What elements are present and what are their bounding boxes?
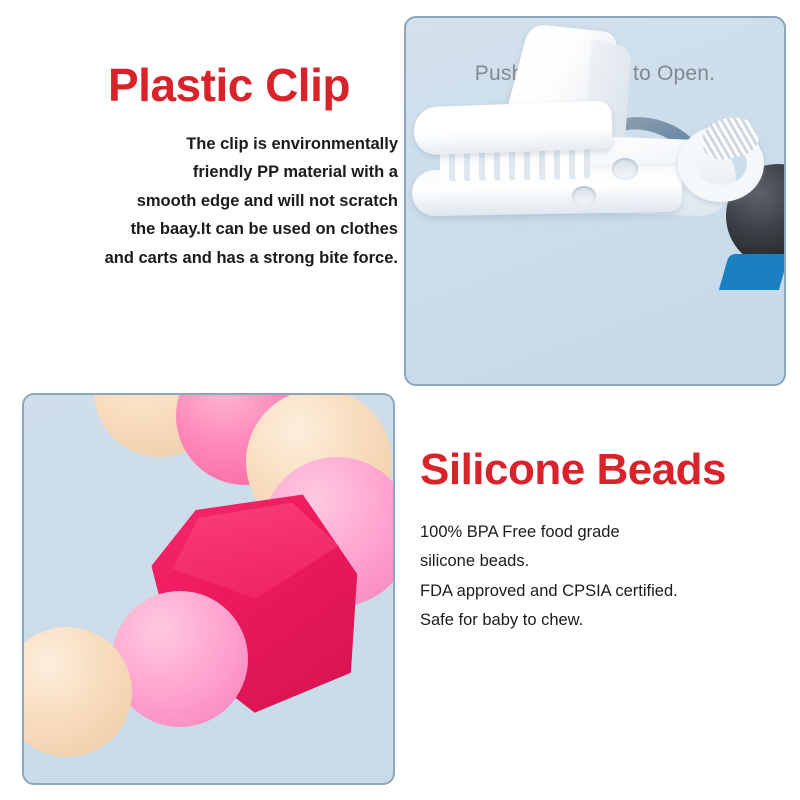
plastic-clip-text-block: Plastic Clip The clip is environmentally… [48,62,398,272]
description-line: smooth edge and will not scratch [48,187,398,215]
plastic-clip-description: The clip is environmentally friendly PP … [48,130,398,272]
silicone-beads-photo-panel [22,393,395,785]
description-line: The clip is environmentally [48,130,398,158]
description-line: Safe for baby to chew. [420,606,780,635]
description-line: and carts and has a strong bite force. [48,244,398,272]
clip-top-jaw [413,101,613,156]
round-bead-light-pink [112,591,248,727]
clip-hinge-hole [572,186,596,206]
plastic-clip-heading: Plastic Clip [108,62,398,108]
silicone-beads-heading: Silicone Beads [420,448,780,492]
blue-accent-shape [719,254,786,290]
silicone-beads-text-block: Silicone Beads 100% BPA Free food grade … [420,448,780,635]
plastic-clip-photo-panel: Push Down Clip to Open. [404,16,786,386]
description-line: the baay.It can be used on clothes [48,215,398,243]
description-line: silicone beads. [420,547,780,576]
infographic-page: Plastic Clip The clip is environmentally… [0,0,800,800]
silicone-beads-description: 100% BPA Free food grade silicone beads.… [420,518,780,635]
clip-hinge-hole [612,158,638,180]
description-line: 100% BPA Free food grade [420,518,780,547]
description-line: friendly PP material with a [48,158,398,186]
description-line: FDA approved and CPSIA certified. [420,577,780,606]
